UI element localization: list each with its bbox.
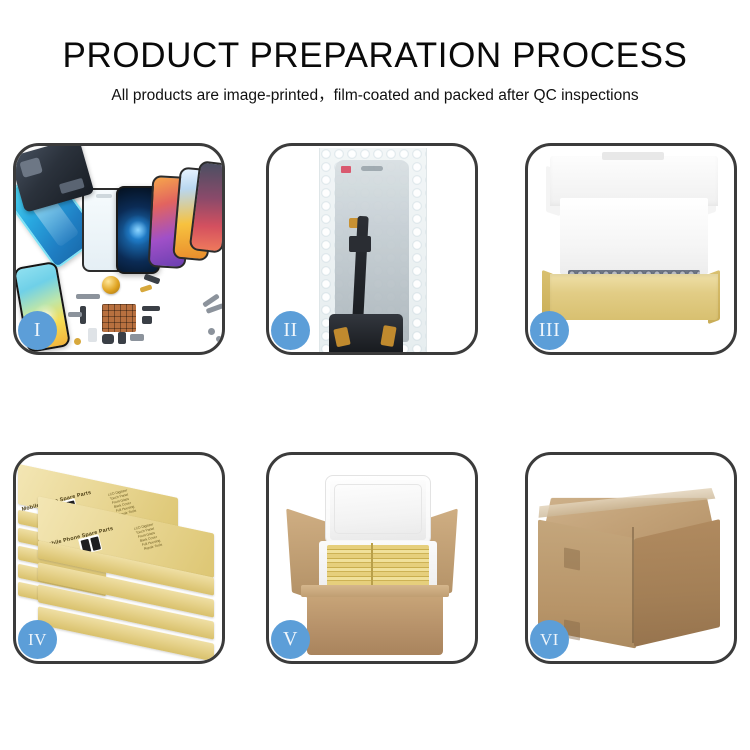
carton-front-icon — [307, 593, 443, 655]
page-title: PRODUCT PREPARATION PROCESS — [0, 36, 750, 76]
spare-part-icon — [76, 294, 100, 299]
screw-icon — [74, 338, 81, 345]
spare-part-icon — [142, 316, 152, 324]
screw-icon — [208, 328, 215, 335]
connector-board-icon — [102, 304, 136, 332]
driver-board-icon — [329, 314, 403, 355]
spare-part-icon — [68, 312, 82, 317]
step-badge-5: V — [271, 620, 310, 659]
step-badge-3: III — [530, 311, 569, 350]
gold-box-front-icon — [550, 274, 718, 320]
step-panel-2: II — [266, 143, 478, 355]
spare-part-icon — [143, 273, 160, 284]
spare-part-icon — [102, 334, 114, 344]
carton-edge-icon — [632, 527, 634, 643]
spare-part-icon — [130, 334, 144, 341]
connector-icon — [349, 236, 371, 252]
carton-right-face-icon — [634, 519, 720, 647]
step-panel-4: Mobile Phone Spare Parts LCD Digitizer T… — [13, 452, 225, 664]
step-badge-2: II — [271, 311, 310, 350]
product-preparation-infographic: PRODUCT PREPARATION PROCESS All products… — [0, 0, 750, 750]
spare-part-icon — [140, 284, 153, 292]
red-label-icon — [341, 166, 351, 173]
page-subtitle: All products are image-printed，film-coat… — [0, 86, 750, 106]
step-panel-3: III — [525, 143, 737, 355]
screw-icon — [216, 336, 222, 342]
vibration-motor-icon — [102, 276, 120, 294]
header: PRODUCT PREPARATION PROCESS All products… — [0, 0, 750, 130]
foam-sheet-icon — [560, 198, 708, 274]
step-badge-6: VI — [530, 620, 569, 659]
gold-boxes-row-icon — [327, 545, 429, 587]
step-badge-4: IV — [18, 620, 57, 659]
spare-part-icon — [142, 306, 160, 311]
step-badge-1: I — [18, 311, 57, 350]
spare-part-icon — [118, 332, 126, 344]
process-step-grid: I II — [13, 143, 737, 664]
carton-flap-mark-icon — [564, 547, 580, 570]
step-panel-5: V — [266, 452, 478, 664]
step-panel-6: VI — [525, 452, 737, 664]
step-panel-1: I — [13, 143, 225, 355]
spare-part-icon — [88, 328, 97, 342]
foam-box-lid-icon — [325, 475, 431, 545]
